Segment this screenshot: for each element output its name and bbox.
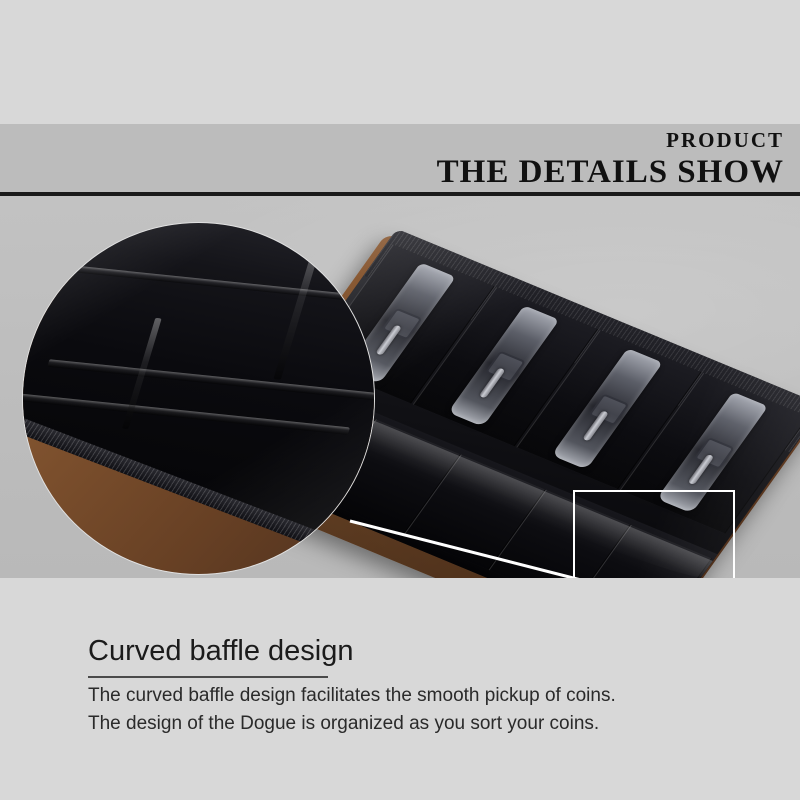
baffle-divider [122, 318, 162, 429]
header-kicker: PRODUCT [14, 128, 784, 152]
baffle-divider [22, 386, 350, 434]
page-title: THE DETAILS SHOW [14, 153, 784, 191]
baffle-divider [273, 241, 322, 380]
feature-description-line-2: The design of the Dogue is organized as … [88, 712, 599, 736]
baffle-divider [47, 359, 375, 405]
magnified-detail-content [22, 222, 375, 575]
feature-heading-underline [88, 676, 328, 678]
feature-description-line-1: The curved baffle design facilitates the… [88, 684, 616, 708]
product-detail-page: PRODUCT THE DETAILS SHOW [0, 0, 800, 800]
header-text-group: PRODUCT THE DETAILS SHOW [14, 124, 784, 191]
feature-heading: Curved baffle design [88, 634, 353, 668]
baffle-divider [22, 260, 367, 302]
magnified-tray-corner [22, 222, 375, 575]
magnified-detail-circle [22, 222, 375, 575]
